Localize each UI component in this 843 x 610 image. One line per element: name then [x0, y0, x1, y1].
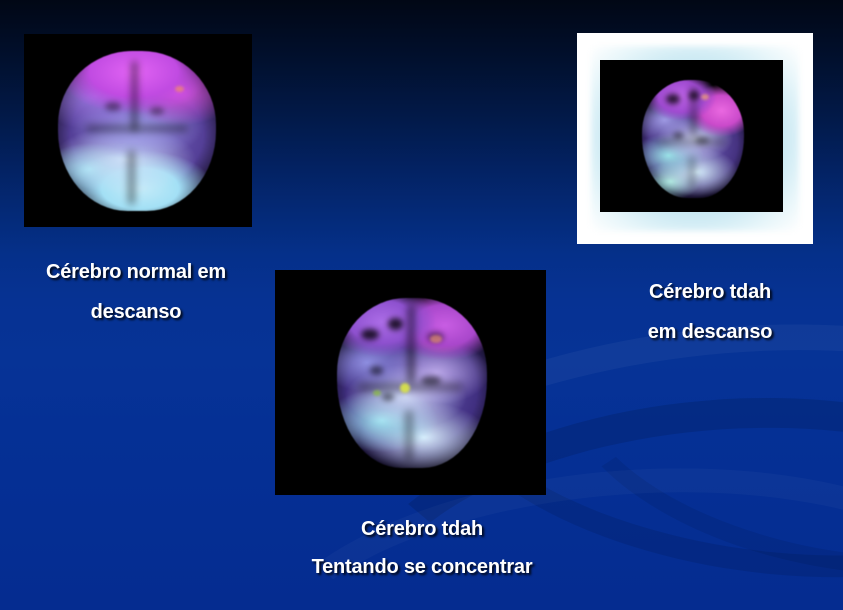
- brain-hypoperfusion-spot: [361, 329, 379, 340]
- brain-scan-panel-adhd-concentrating: [275, 270, 546, 495]
- brain-fissure: [689, 156, 695, 189]
- caption-line: descanso: [0, 292, 272, 332]
- brain-image-adhd-concentrating: [337, 298, 487, 468]
- brain-hot-spot: [430, 335, 442, 343]
- brain-fissure: [132, 61, 137, 131]
- brain-hypoperfusion-spot: [666, 94, 680, 104]
- brain-fissure: [658, 139, 725, 145]
- brain-scan-panel-normal-at-rest: [24, 34, 252, 227]
- brain-fissure: [128, 150, 135, 204]
- brain-hypoperfusion-spot: [105, 102, 121, 111]
- caption-line: Tentando se concentrar: [232, 548, 612, 586]
- brain-hot-spot: [175, 86, 184, 92]
- caption-line: Cérebro tdah: [232, 510, 612, 548]
- brain-hypoperfusion-spot: [673, 132, 684, 139]
- brain-hypoperfusion-spot: [689, 91, 699, 100]
- caption-adhd-concentrating: Cérebro tdah Tentando se concentrar: [232, 510, 612, 586]
- brain-hypoperfusion-spot: [388, 318, 403, 330]
- caption-line: em descanso: [578, 312, 842, 352]
- brain-scan-frame-adhd-at-rest: [577, 33, 813, 244]
- brain-image-adhd-at-rest: [642, 80, 744, 198]
- caption-line: Cérebro normal em: [0, 252, 272, 292]
- brain-fissure: [405, 410, 413, 461]
- presentation-slide: Cérebro normal em descanso Cérebro tdah …: [0, 0, 843, 610]
- brain-image-normal-at-rest: [58, 51, 216, 211]
- caption-line: Cérebro tdah: [578, 272, 842, 312]
- caption-normal-at-rest: Cérebro normal em descanso: [0, 252, 272, 332]
- brain-marker-dot: [400, 383, 410, 393]
- brain-fissure: [86, 125, 187, 132]
- brain-fissure: [408, 305, 414, 383]
- brain-hot-spot: [701, 94, 709, 100]
- brain-hypoperfusion-spot: [382, 393, 394, 401]
- brain-marker-dot: [373, 390, 381, 396]
- brain-hypoperfusion-spot: [370, 366, 383, 375]
- brain-scan-panel-adhd-at-rest: [600, 60, 783, 212]
- caption-adhd-at-rest: Cérebro tdah em descanso: [578, 272, 842, 352]
- brain-hypoperfusion-spot: [150, 107, 164, 115]
- brain-hypoperfusion-spot: [695, 137, 709, 144]
